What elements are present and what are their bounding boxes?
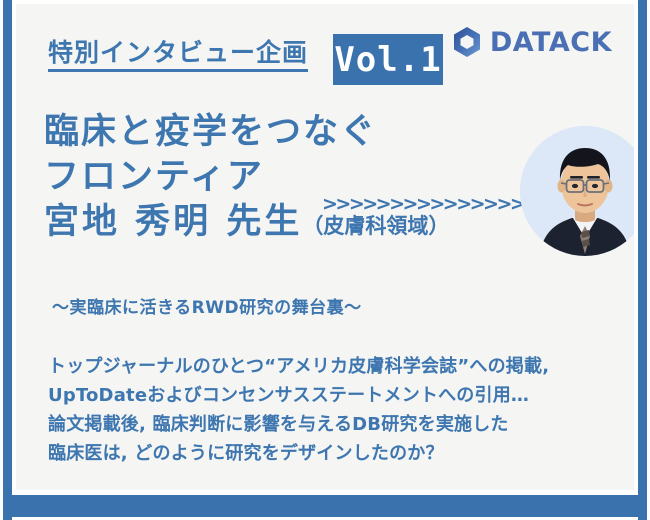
body-line: UpToDateおよびコンセンサスステートメントへの引用… [48,381,608,410]
eyebrow-label: 特別インタビュー企画 [48,40,308,72]
speaker-name: 宮地 秀明 先生 [44,202,302,242]
speaker-specialty: （皮膚科領域） [302,214,449,238]
poster-canvas: 特別インタビュー企画 Vol.1 DATACK 臨 [16,4,634,490]
frame-border-bottom [3,495,647,517]
speaker-portrait [520,126,634,256]
volume-badge: Vol.1 [333,34,443,85]
headline-line-1: 臨床と疫学をつなぐ [44,110,514,155]
subtitle-text: 〜実臨床に活きるRWD研究の舞台裏〜 [52,293,362,318]
brand-lockup: DATACK [452,26,612,58]
headline-block: 臨床と疫学をつなぐ フロンティア 宮地 秀明 先生（皮膚科領域） [44,110,514,245]
body-line: 論文掲載後, 臨床判断に影響を与えるDB研究を実施した [48,410,608,439]
hexagon-logo-icon [452,26,482,58]
body-line: トップジャーナルのひとつ“アメリカ皮膚科学会誌”への掲載, [48,352,608,381]
frame-border-right [638,0,647,520]
brand-name: DATACK [490,27,612,58]
frame-border-left [3,0,12,520]
body-line: 臨床医は, どのように研究をデザインしたのか？ [48,439,608,468]
body-copy: トップジャーナルのひとつ“アメリカ皮膚科学会誌”への掲載, UpToDateおよ… [48,352,608,469]
poster-root: 特別インタビュー企画 Vol.1 DATACK 臨 [0,0,650,520]
